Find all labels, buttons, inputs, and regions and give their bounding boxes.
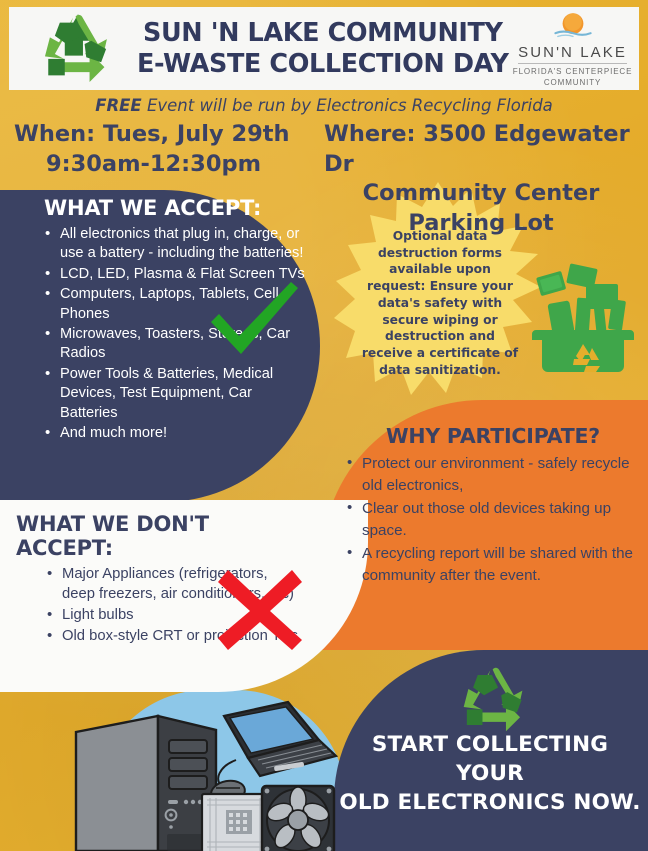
brand-tagline-line-2: COMMUNITY bbox=[544, 78, 601, 87]
brand-tagline: FLORIDA'S CENTERPIECE COMMUNITY bbox=[509, 67, 637, 89]
deny-title: WHAT WE DON'T ACCEPT: bbox=[16, 512, 304, 560]
when-line-2: 9:30am-12:30pm bbox=[8, 150, 313, 180]
header-title-group: SUN 'N LAKE COMMUNITY E-WASTE COLLECTION… bbox=[131, 18, 509, 78]
cta-text: START COLLECTING YOUR OLD ELECTRONICS NO… bbox=[338, 730, 642, 817]
free-rest: Event will be run by Electronics Recycli… bbox=[142, 96, 553, 115]
brand-tagline-line-1: FLORIDA'S CENTERPIECE bbox=[513, 67, 633, 76]
why-participate-content: WHY PARTICIPATE? Protect our environment… bbox=[340, 424, 646, 588]
why-participate-list: Protect our environment - safely recycle… bbox=[340, 453, 646, 586]
why-participate-title: WHY PARTICIPATE? bbox=[340, 424, 646, 448]
sun-n-lake-brand-logo: SUN'N LAKE FLORIDA'S CENTERPIECE COMMUNI… bbox=[509, 9, 645, 89]
recycle-symbol-icon bbox=[25, 11, 131, 87]
list-item: Clear out those old devices taking up sp… bbox=[360, 498, 646, 541]
header-band: SUN 'N LAKE COMMUNITY E-WASTE COLLECTION… bbox=[9, 7, 639, 90]
list-item: Protect our environment - safely recycle… bbox=[360, 453, 646, 496]
cta-line-1: START COLLECTING YOUR bbox=[338, 730, 642, 788]
where-line-1: Where: 3500 Edgewater Dr bbox=[320, 120, 642, 179]
when-line-1: When: Tues, July 29th bbox=[8, 120, 313, 150]
sun-over-water-icon bbox=[553, 9, 593, 43]
list-item: Power Tools & Batteries, Medical Devices… bbox=[58, 365, 310, 423]
event-when-block: When: Tues, July 29th 9:30am-12:30pm bbox=[8, 120, 313, 179]
brand-name-text: SUN'N LAKE bbox=[518, 44, 627, 64]
page-title-line-2: E-WASTE COLLECTION DAY bbox=[137, 49, 509, 79]
flyer-poster: SUN 'N LAKE COMMUNITY E-WASTE COLLECTION… bbox=[0, 0, 648, 851]
green-checkmark-icon bbox=[205, 282, 301, 358]
free-event-line: FREE Event will be run by Electronics Re… bbox=[0, 96, 648, 115]
data-destruction-note: Optional data destruction forms availabl… bbox=[358, 228, 522, 378]
list-item: And much more! bbox=[58, 424, 310, 443]
recycle-symbol-icon bbox=[452, 664, 538, 736]
red-x-icon bbox=[214, 566, 306, 652]
free-emphasis: FREE bbox=[95, 96, 142, 115]
accept-title: WHAT WE ACCEPT: bbox=[44, 196, 310, 220]
cta-line-2: OLD ELECTRONICS NOW. bbox=[338, 788, 642, 817]
list-item: All electronics that plug in, charge, or… bbox=[58, 225, 310, 264]
page-title-line-1: SUN 'N LAKE COMMUNITY bbox=[137, 18, 509, 48]
where-line-3: Parking Lot bbox=[320, 209, 642, 239]
where-line-2: Community Center bbox=[320, 179, 642, 209]
event-where-block: Where: 3500 Edgewater Dr Community Cente… bbox=[320, 120, 642, 239]
recycling-bin-with-devices-icon bbox=[524, 258, 642, 382]
list-item: A recycling report will be shared with t… bbox=[360, 543, 646, 586]
desktop-computer-laptop-icon bbox=[40, 694, 340, 851]
